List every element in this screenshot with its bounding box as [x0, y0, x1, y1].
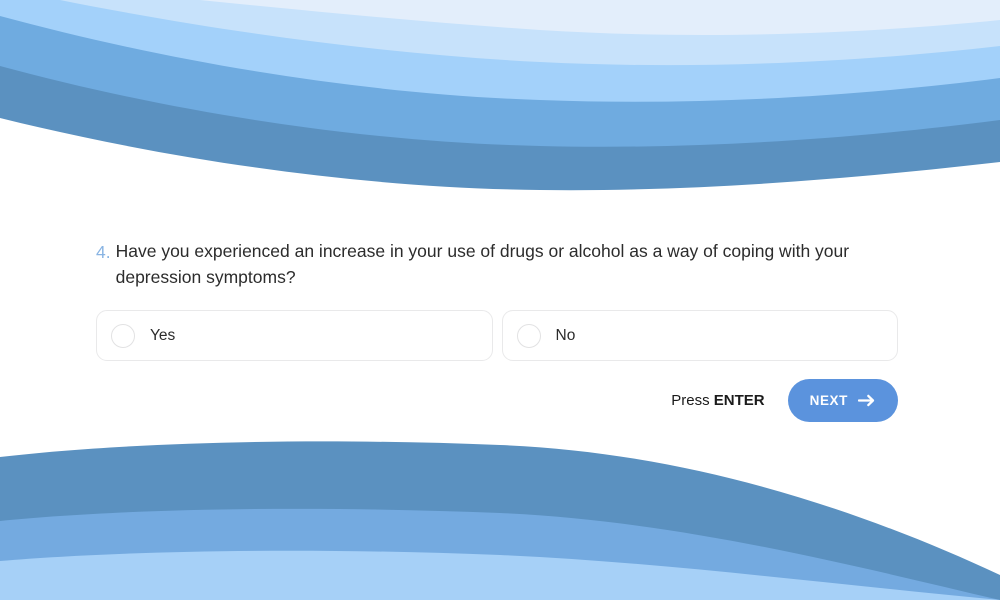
wave-top-band-5-dark — [0, 0, 1000, 190]
wave-top-band-4-medium — [0, 0, 1000, 147]
answer-options-group: Yes No — [96, 310, 898, 361]
question-block: 4. Have you experienced an increase in y… — [96, 238, 898, 290]
radio-button-no[interactable] — [517, 324, 541, 348]
wave-bottom-band-1-dark — [0, 441, 1000, 600]
question-text: Have you experienced an increase in your… — [116, 238, 886, 290]
press-enter-key: ENTER — [714, 392, 765, 409]
survey-page: 4. Have you experienced an increase in y… — [0, 0, 1000, 600]
option-card-no[interactable]: No — [502, 310, 899, 361]
radio-button-yes[interactable] — [111, 324, 135, 348]
press-enter-prefix: Press — [671, 392, 714, 409]
option-card-yes[interactable]: Yes — [96, 310, 493, 361]
wave-top-band-1-palest — [0, 0, 1000, 35]
arrow-right-icon — [858, 393, 876, 408]
survey-content: 4. Have you experienced an increase in y… — [96, 238, 898, 422]
wave-top-band-3-light — [0, 0, 1000, 102]
next-button-label: NEXT — [810, 393, 848, 408]
question-number: 4. — [96, 238, 111, 265]
wave-bottom-band-3-light — [0, 551, 1000, 600]
next-button[interactable]: NEXT — [788, 379, 898, 422]
option-label-yes: Yes — [150, 327, 175, 345]
press-enter-hint: Press ENTER — [671, 392, 764, 409]
bottom-wave-decoration — [0, 435, 1000, 600]
option-label-no: No — [556, 327, 576, 345]
wave-bottom-band-2-medium — [0, 509, 1000, 600]
form-footer: Press ENTER NEXT — [96, 379, 898, 422]
top-wave-decoration — [0, 0, 1000, 210]
wave-top-band-2-pale — [0, 0, 1000, 65]
